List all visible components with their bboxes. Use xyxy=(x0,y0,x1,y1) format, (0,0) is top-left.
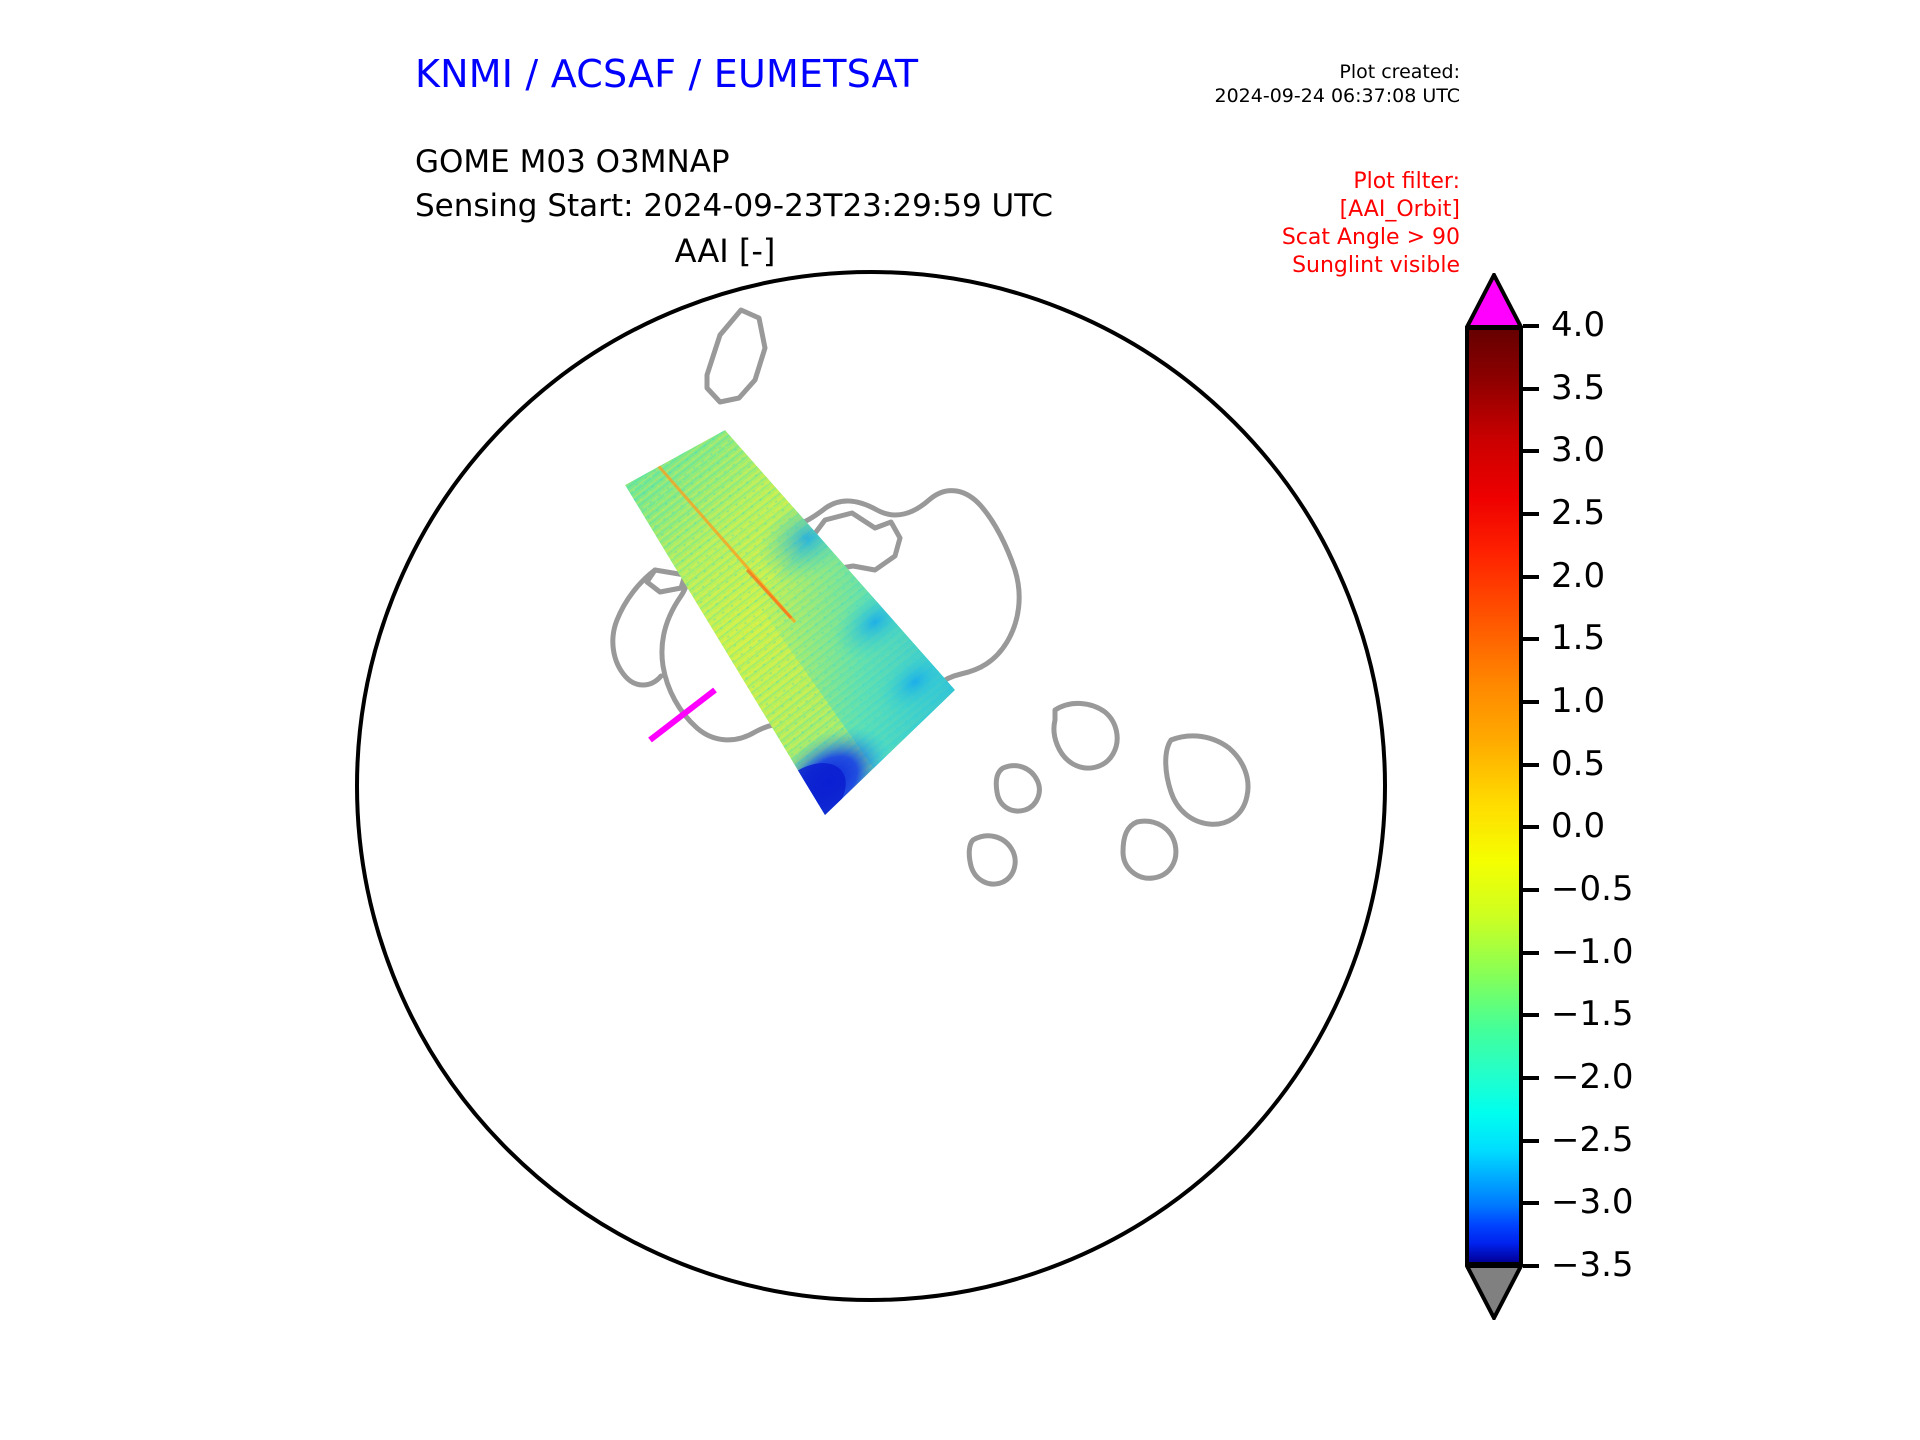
plot-created-time: 2024-09-24 06:37:08 UTC xyxy=(1160,84,1460,108)
dataset-block: GOME M03 O3MNAP Sensing Start: 2024-09-2… xyxy=(415,140,1053,228)
colorbar-under-range-arrow xyxy=(1465,1264,1523,1320)
colorbar-tick-label: 0.5 xyxy=(1551,747,1605,781)
colorbar-tick xyxy=(1523,512,1539,516)
plot-filter-title: Plot filter: xyxy=(1160,168,1460,196)
colorbar-tick-label: −2.5 xyxy=(1551,1123,1634,1157)
colorbar-tick-label: 3.0 xyxy=(1551,433,1605,467)
dataset-name: GOME M03 O3MNAP xyxy=(415,140,1053,184)
colorbar-tick xyxy=(1523,1264,1539,1268)
colorbar-tick-label: −2.0 xyxy=(1551,1060,1634,1094)
map-panel xyxy=(355,270,1395,1310)
map-graphic xyxy=(355,270,1395,1310)
colorbar-tick xyxy=(1523,763,1539,767)
colorbar-tick xyxy=(1523,825,1539,829)
colorbar-tick xyxy=(1523,1076,1539,1080)
plot-filter-block: Plot filter: [AAI_Orbit] Scat Angle > 90… xyxy=(1160,168,1460,280)
colorbar-tick-label: −1.5 xyxy=(1551,997,1634,1031)
colorbar-tick xyxy=(1523,575,1539,579)
colorbar-tick-label: 4.0 xyxy=(1551,308,1605,342)
colorbar-tick-label: 3.5 xyxy=(1551,371,1605,405)
organisation-title: KNMI / ACSAF / EUMETSAT xyxy=(415,52,918,96)
colorbar-tick-label: 0.0 xyxy=(1551,809,1605,843)
colorbar-tick xyxy=(1523,1013,1539,1017)
colorbar-tick-label: −1.0 xyxy=(1551,935,1634,969)
colorbar-tick xyxy=(1523,1201,1539,1205)
colorbar-tick xyxy=(1523,387,1539,391)
plot-filter-line-0: [AAI_Orbit] xyxy=(1160,196,1460,224)
plot-created-label: Plot created: xyxy=(1160,60,1460,84)
colorbar-tick-label: 2.0 xyxy=(1551,559,1605,593)
colorbar-tick xyxy=(1523,951,1539,955)
colorbar-tick xyxy=(1523,637,1539,641)
sensing-start: Sensing Start: 2024-09-23T23:29:59 UTC xyxy=(415,184,1053,228)
colorbar-tick xyxy=(1523,1139,1539,1143)
plot-created-block: Plot created: 2024-09-24 06:37:08 UTC xyxy=(1160,60,1460,108)
colorbar-tick-label: 2.5 xyxy=(1551,496,1605,530)
colorbar-tick-label: 1.0 xyxy=(1551,684,1605,718)
colorbar-tick-label: 1.5 xyxy=(1551,621,1605,655)
aai-data-swath xyxy=(625,430,964,861)
colorbar-tick-label: −3.5 xyxy=(1551,1248,1634,1282)
colorbar-panel: 4.03.53.02.52.01.51.00.50.0−0.5−1.0−1.5−… xyxy=(1455,280,1875,1320)
colorbar-tick xyxy=(1523,449,1539,453)
colorbar-tick-label: −0.5 xyxy=(1551,872,1634,906)
colorbar-over-range-arrow xyxy=(1465,273,1523,329)
colorbar-tick xyxy=(1523,700,1539,704)
colorbar-gradient xyxy=(1465,326,1523,1266)
colorbar-tick-label: −3.0 xyxy=(1551,1185,1634,1219)
colorbar-tick xyxy=(1523,324,1539,328)
colorbar-tick xyxy=(1523,888,1539,892)
plot-filter-line-1: Scat Angle > 90 xyxy=(1160,224,1460,252)
